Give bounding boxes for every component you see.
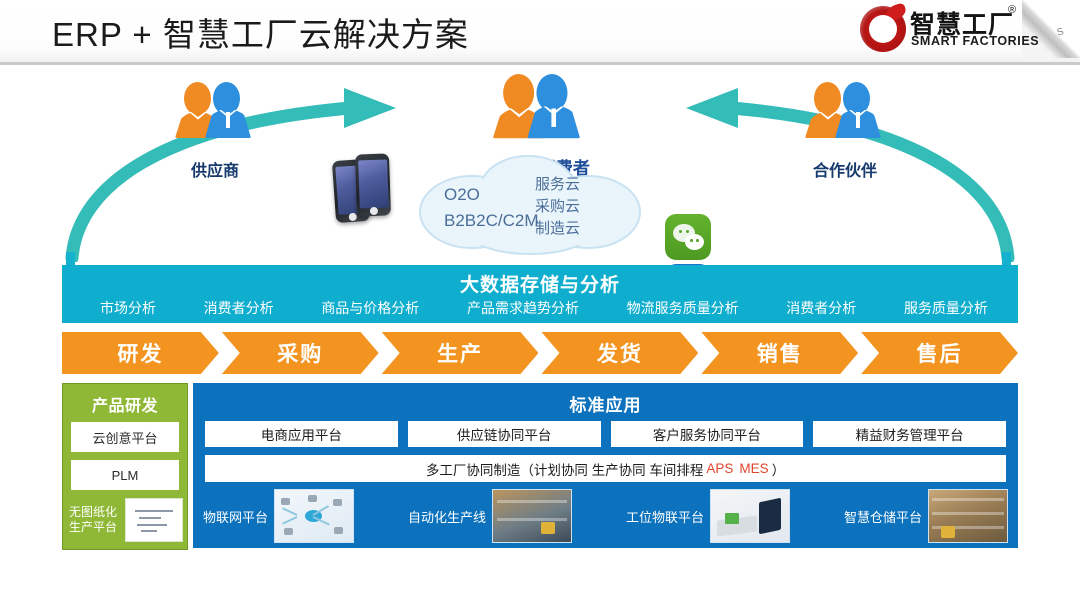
app-box-customer-service[interactable]: 客户服务协同平台 <box>611 421 804 447</box>
bigdata-item: 市场分析 <box>100 298 156 318</box>
bigdata-item: 消费者分析 <box>786 298 856 318</box>
bigdata-tick-left <box>66 252 75 266</box>
mes-tag: MES <box>739 461 768 476</box>
chevron-step[interactable]: 研发 <box>62 332 219 374</box>
bigdata-item: 消费者分析 <box>204 298 274 318</box>
smartphone-icon <box>334 150 398 230</box>
platform-item-workstation[interactable]: 工位物联平台 <box>626 489 790 543</box>
page-title: ERP + 智慧工厂云解决方案 <box>52 8 469 56</box>
bigdata-item: 商品与价格分析 <box>321 298 419 318</box>
multi-factory-suffix: ） <box>772 459 786 479</box>
node-label-partner: 合作伙伴 <box>785 157 905 181</box>
rnd-paperless-label: 无图纸化 生产平台 <box>69 505 125 535</box>
logo-seal-icon: 淼 <box>860 6 906 52</box>
node-label-supplier: 供应商 <box>160 157 270 181</box>
platform-caption: 物联网平台 <box>203 507 268 526</box>
bigdata-item-list: 市场分析 消费者分析 商品与价格分析 产品需求趋势分析 物流服务质量分析 消费者… <box>100 298 988 318</box>
cloud-left-text: O2O B2B2C/C2M <box>444 182 538 234</box>
iot-platform-thumbnail-icon <box>274 489 354 543</box>
aps-tag: APS <box>706 461 733 476</box>
platform-item-automation-line[interactable]: 自动化生产线 <box>408 489 572 543</box>
product-rnd-title: 产品研发 <box>63 392 187 416</box>
platform-caption: 智慧仓储平台 <box>844 507 922 526</box>
process-chevron-row: 研发 采购 生产 发货 销售 售后 <box>62 332 1018 374</box>
platform-caption: 工位物联平台 <box>626 507 704 526</box>
rnd-item-cloud-creative[interactable]: 云创意平台 <box>71 422 179 452</box>
partner-arrow-head <box>686 88 738 128</box>
customer-people-icon <box>487 74 588 145</box>
supplier-arrow-head <box>344 88 396 128</box>
rnd-item-paperless[interactable]: 无图纸化 生产平台 <box>69 497 183 543</box>
partner-people-icon <box>800 82 888 144</box>
app-box-supply-chain[interactable]: 供应链协同平台 <box>408 421 601 447</box>
bigdata-item: 物流服务质量分析 <box>627 298 739 318</box>
chevron-step[interactable]: 发货 <box>541 332 698 374</box>
cloud-right-text: 服务云 采购云 制造云 <box>535 174 580 240</box>
bigdata-band: 大数据存储与分析 市场分析 消费者分析 商品与价格分析 产品需求趋势分析 物流服… <box>62 265 1018 323</box>
warehouse-thumbnail-icon <box>928 489 1008 543</box>
ecosystem-flow-diagram: 供应商 客户/消费者 合作伙伴 <box>0 62 1080 262</box>
multi-factory-prefix: 多工厂协同制造（计划协同 生产协同 车间排程 <box>426 459 704 479</box>
workstation-thumbnail-icon <box>710 489 790 543</box>
registered-mark-icon: ® <box>1008 4 1016 16</box>
standard-application-title: 标准应用 <box>193 391 1018 416</box>
bigdata-title: 大数据存储与分析 <box>62 270 1018 297</box>
platform-caption: 自动化生产线 <box>408 507 486 526</box>
standard-application-panel: 标准应用 电商应用平台 供应链协同平台 客户服务协同平台 精益财务管理平台 多工… <box>193 383 1018 548</box>
bigdata-item: 服务质量分析 <box>904 298 988 318</box>
cloud-shape: O2O B2B2C/C2M 服务云 采购云 制造云 <box>410 150 660 258</box>
chevron-step[interactable]: 生产 <box>382 332 539 374</box>
bigdata-item: 产品需求趋势分析 <box>467 298 579 318</box>
platform-item-smart-warehouse[interactable]: 智慧仓储平台 <box>844 489 1008 543</box>
application-box-row: 电商应用平台 供应链协同平台 客户服务协同平台 精益财务管理平台 <box>205 421 1006 447</box>
platform-icon-row: 物联网平台 自动化生产线 <box>203 488 1008 544</box>
logo-mark-character: 淼 <box>869 14 897 42</box>
app-box-finance[interactable]: 精益财务管理平台 <box>813 421 1006 447</box>
paperless-thumbnail-icon <box>125 498 183 542</box>
chevron-step[interactable]: 采购 <box>222 332 379 374</box>
product-rnd-panel: 产品研发 云创意平台 PLM 无图纸化 生产平台 <box>62 383 188 550</box>
brand-logo: 淼 智慧工厂 ® SMART FACTORIES S <box>856 3 1066 55</box>
rnd-item-plm[interactable]: PLM <box>71 460 179 490</box>
bigdata-tick-right <box>1002 252 1011 266</box>
wechat-icon[interactable] <box>665 214 711 260</box>
app-box-ecommerce[interactable]: 电商应用平台 <box>205 421 398 447</box>
supplier-people-icon <box>170 82 258 144</box>
slide-header: ERP + 智慧工厂云解决方案 淼 智慧工厂 ® SMART FACTORIES… <box>0 0 1080 65</box>
chevron-step[interactable]: 销售 <box>701 332 858 374</box>
slide-root: ERP + 智慧工厂云解决方案 淼 智慧工厂 ® SMART FACTORIES… <box>0 0 1080 608</box>
logo-english-name: SMART FACTORIES <box>911 34 1039 48</box>
multi-factory-row[interactable]: 多工厂协同制造（计划协同 生产协同 车间排程 APS MES ） <box>205 455 1006 482</box>
logo-flame-icon <box>884 2 907 21</box>
platform-item-iot[interactable]: 物联网平台 <box>203 489 354 543</box>
chevron-step[interactable]: 售后 <box>861 332 1018 374</box>
automation-line-thumbnail-icon <box>492 489 572 543</box>
logo-corner-letter: S <box>1056 26 1065 38</box>
